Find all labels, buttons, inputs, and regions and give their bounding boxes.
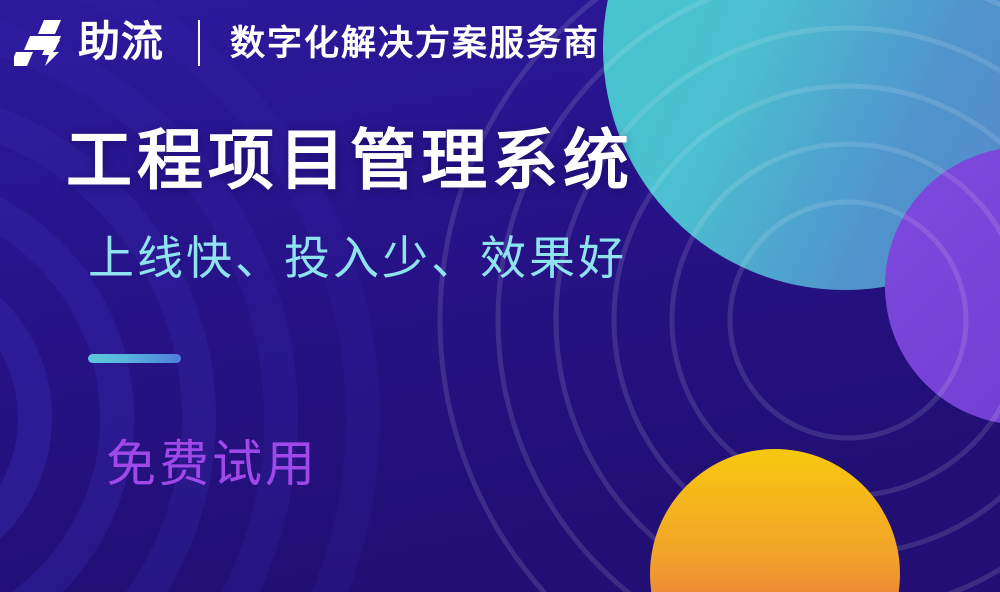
banner-header: 助流 数字化解决方案服务商 <box>14 8 600 78</box>
teal-blue-circle <box>603 0 1000 290</box>
page-title: 工程项目管理系统 <box>66 124 634 197</box>
background-fill <box>0 0 1000 592</box>
header-separator <box>198 20 200 66</box>
decorative-background <box>0 0 1000 592</box>
accent-divider <box>88 354 181 363</box>
orange-sun-circle <box>650 449 900 592</box>
decor-svg <box>0 0 1000 592</box>
zhuliu-flow-logo-icon <box>14 14 72 72</box>
header-tagline: 数字化解决方案服务商 <box>230 26 600 61</box>
right-concentric-rings <box>440 0 1000 592</box>
brand-name: 助流 <box>78 21 164 65</box>
promo-banner: 助流 数字化解决方案服务商 工程项目管理系统 上线快、投入少、效果好 免费试用 <box>0 0 1000 592</box>
left-concentric-arcs <box>0 0 363 592</box>
purple-circle <box>885 147 1000 425</box>
page-subtitle: 上线快、投入少、效果好 <box>88 233 627 284</box>
free-trial-cta[interactable]: 免费试用 <box>106 437 318 492</box>
